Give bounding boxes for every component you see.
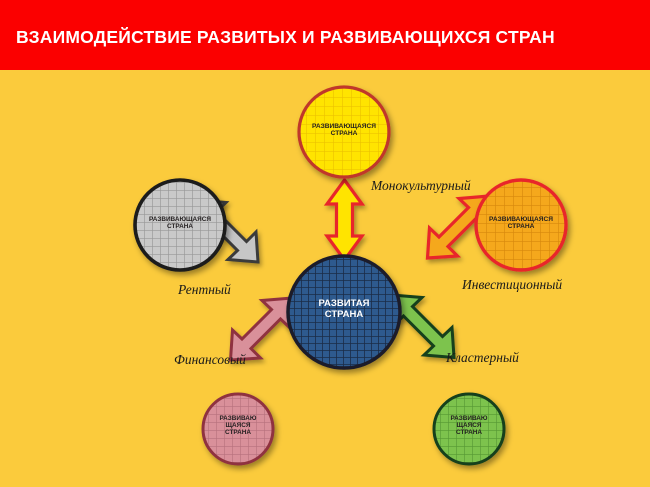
title-bar: ВЗАИМОДЕЙСТВИЕ РАЗВИТЫХ И РАЗВИВАЮЩИХСЯ … (0, 0, 650, 70)
connector-investment-label: Инвестиционный (462, 277, 562, 293)
interaction-diagram: РАЗВИТАЯ СТРАНА РАЗВИВАЮЩАЯСЯ СТРАНА РАЗ… (0, 70, 650, 487)
developing-country-top-node[interactable] (299, 87, 389, 177)
developing-country-bottom-right-node[interactable] (434, 394, 504, 464)
connector-financial-label: Финансовый (174, 352, 246, 368)
connector-cluster-arrow[interactable] (392, 295, 454, 358)
connector-rent-label: Рентный (178, 282, 231, 298)
connector-financial-arrow[interactable] (231, 298, 293, 360)
slide-canvas: ВЗАИМОДЕЙСТВИЕ РАЗВИТЫХ И РАЗВИВАЮЩИХСЯ … (0, 0, 650, 487)
connector-monocultural-arrow[interactable] (327, 180, 362, 260)
connector-cluster-label: Кластерный (446, 350, 519, 366)
page-title: ВЗАИМОДЕЙСТВИЕ РАЗВИТЫХ И РАЗВИВАЮЩИХСЯ … (16, 27, 555, 48)
developing-country-left-node[interactable] (135, 180, 225, 270)
developing-country-bottom-left-node[interactable] (203, 394, 273, 464)
developed-country-node[interactable] (288, 256, 400, 368)
developing-country-right-node[interactable] (476, 180, 566, 270)
connector-monocultural-label: Монокультурный (371, 178, 471, 194)
